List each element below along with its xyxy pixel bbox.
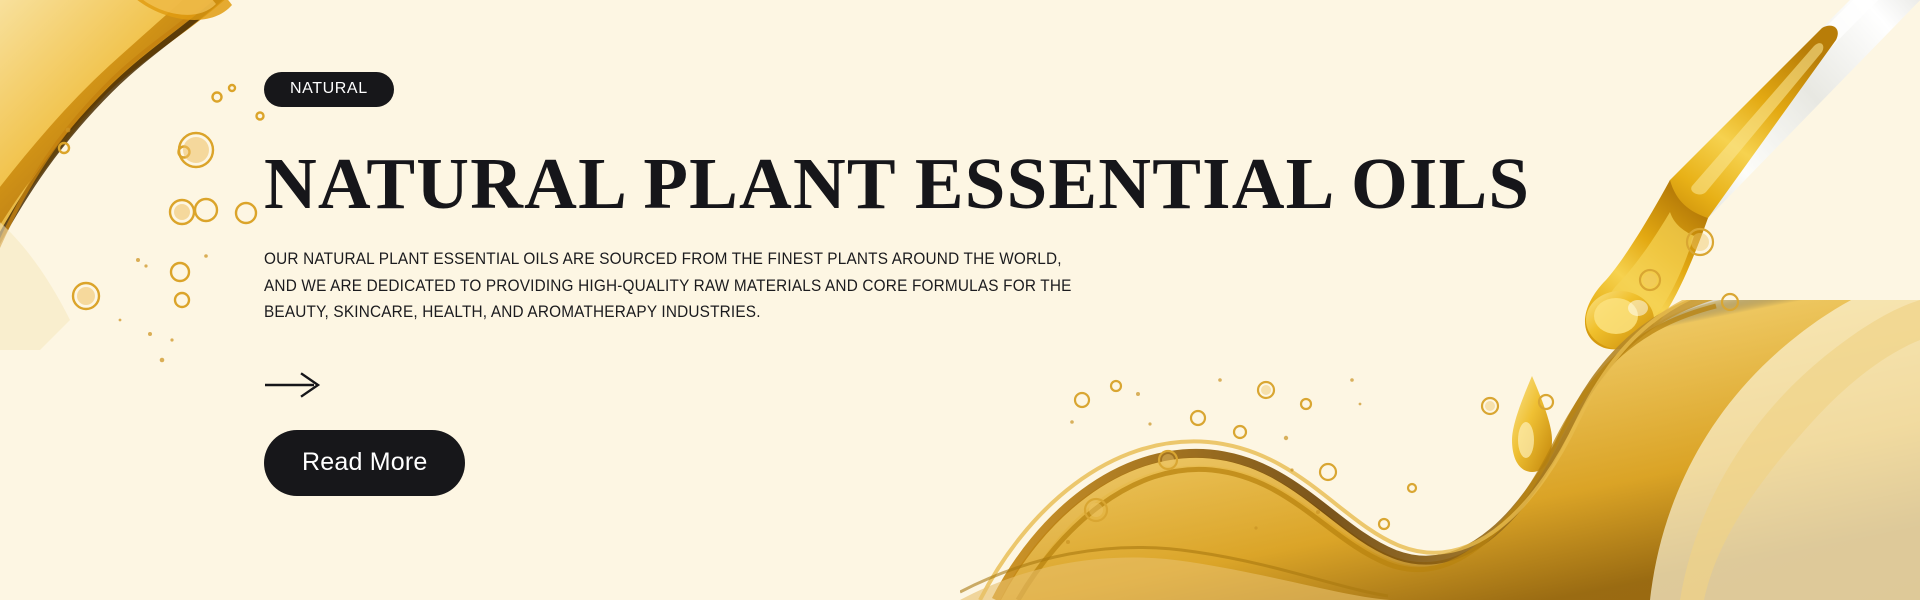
hero-banner: NATURAL NATURAL PLANT ESSENTIAL OILS OUR… <box>0 0 1920 600</box>
hero-content: NATURAL NATURAL PLANT ESSENTIAL OILS OUR… <box>264 72 1324 496</box>
page-title: NATURAL PLANT ESSENTIAL OILS <box>264 147 1324 220</box>
hero-description: OUR NATURAL PLANT ESSENTIAL OILS ARE SOU… <box>264 246 1092 326</box>
natural-badge: NATURAL <box>264 72 394 107</box>
oil-bubbles-dropper-icon <box>1580 210 1780 370</box>
oil-swirl-left-lower-icon <box>0 150 160 350</box>
oil-droplet-icon <box>1498 370 1568 480</box>
oil-bubbles-left-icon <box>20 60 300 390</box>
arrow-right-icon[interactable] <box>264 372 324 398</box>
read-more-button[interactable]: Read More <box>264 430 465 496</box>
